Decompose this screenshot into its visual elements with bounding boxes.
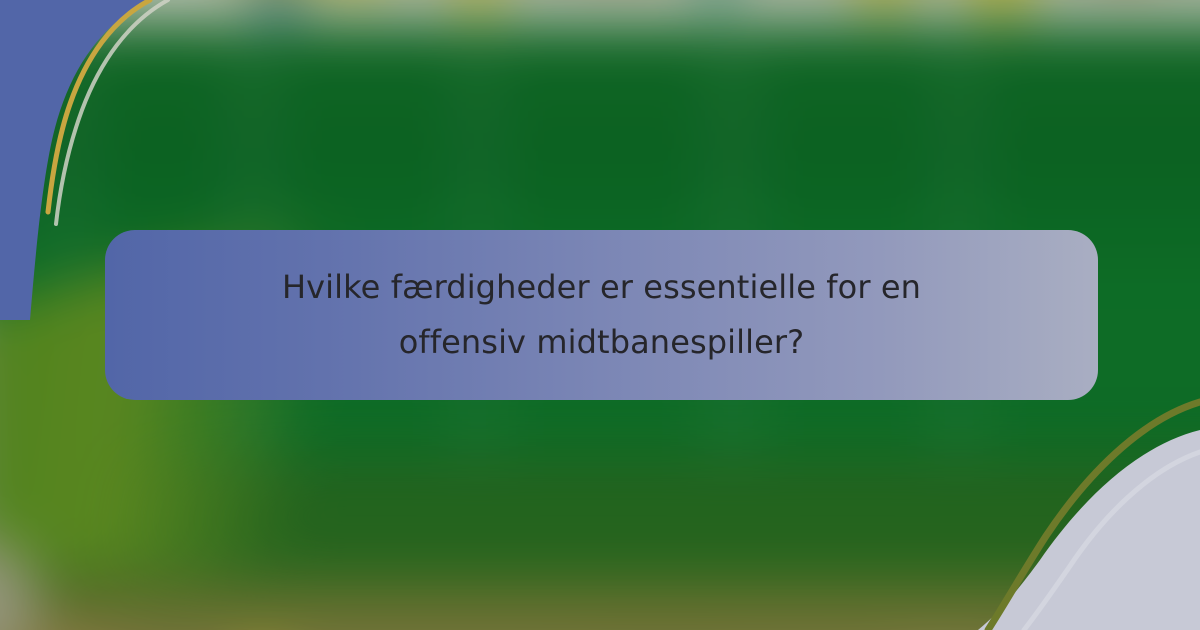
og-image-canvas: Hvilke færdigheder er essentielle for en… bbox=[0, 0, 1200, 630]
question-text: Hvilke færdigheder er essentielle for en… bbox=[252, 260, 952, 370]
bottom-right-swoosh-decoration bbox=[900, 390, 1200, 630]
question-card: Hvilke færdigheder er essentielle for en… bbox=[105, 230, 1098, 400]
